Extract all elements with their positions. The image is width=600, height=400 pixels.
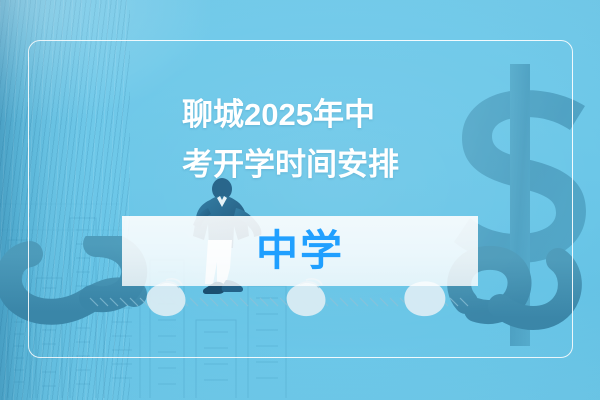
background-vignette — [0, 0, 600, 400]
banner-image: 聊城2025年中 考开学时间安排 中学 — [0, 0, 600, 400]
